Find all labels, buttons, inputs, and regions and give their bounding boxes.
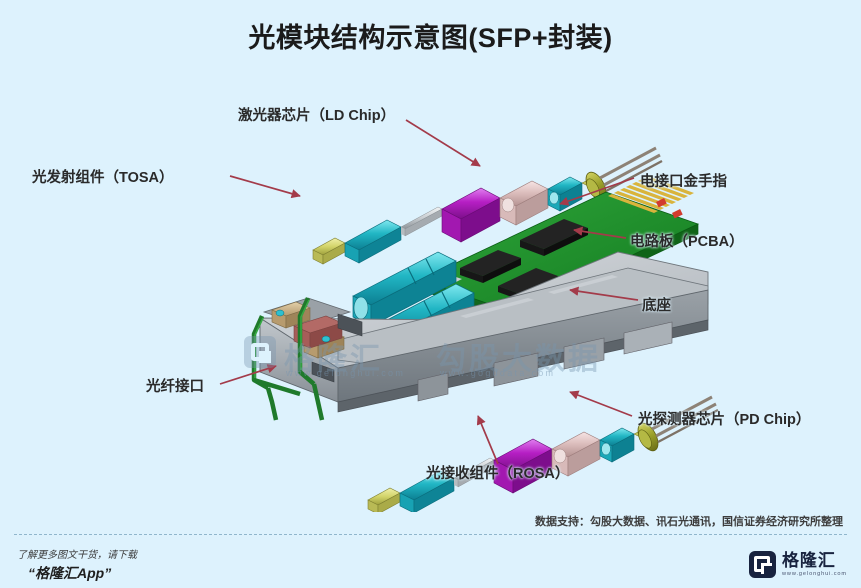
logo-url: www.gelonghui.com [782, 572, 847, 578]
slide-page: 光模块结构示意图(SFP+封装) [0, 0, 861, 588]
rosa-cyan-collar [600, 428, 634, 462]
arrow-pd-chip [570, 392, 632, 416]
gelonghui-g-icon [749, 551, 776, 578]
label-pd-chip: 光探测器芯片（PD Chip） [638, 408, 810, 429]
sfp-module-illustration [8, 72, 853, 512]
arrow-rosa [478, 416, 498, 464]
label-pcba: 电路板（PCBA） [630, 230, 744, 251]
tosa-magenta-body [442, 188, 500, 242]
label-gold-finger: 电接口金手指 [640, 170, 727, 191]
logo-name: 格隆汇 [782, 552, 847, 569]
tosa-cyan-barrel [345, 220, 401, 263]
source-note: 数据支持：勾股大数据、讯石光通讯，国信证券经济研究所整理 [535, 513, 843, 529]
promo-line-1: 了解更多图文干货，请下载 [17, 546, 137, 561]
label-ld-chip: 激光器芯片（LD Chip） [238, 104, 395, 125]
label-rosa: 光接收组件（ROSA） [426, 462, 569, 483]
promo-line-2: “格隆汇App” [28, 563, 111, 583]
diagram-stage: 格隆汇 www.gelonghui.com 勾股大数据 www.gogudata… [8, 72, 853, 512]
page-title: 光模块结构示意图(SFP+封装) [0, 16, 861, 55]
arrow-ld-chip [406, 120, 480, 166]
logo-text-block: 格隆汇 www.gelonghui.com [782, 552, 847, 578]
label-fiber-port: 光纤接口 [146, 375, 204, 396]
gelonghui-logo[interactable]: 格隆汇 www.gelonghui.com [749, 551, 847, 578]
label-tosa: 光发射组件（TOSA） [32, 166, 174, 187]
label-base: 底座 [642, 294, 671, 315]
tosa-pink-sleeve [500, 181, 548, 225]
rosa-ferrule [368, 488, 400, 512]
arrow-tosa [230, 176, 300, 196]
tosa-shaft [401, 207, 442, 236]
footer-divider [14, 534, 847, 535]
tosa-ferrule [313, 238, 345, 264]
